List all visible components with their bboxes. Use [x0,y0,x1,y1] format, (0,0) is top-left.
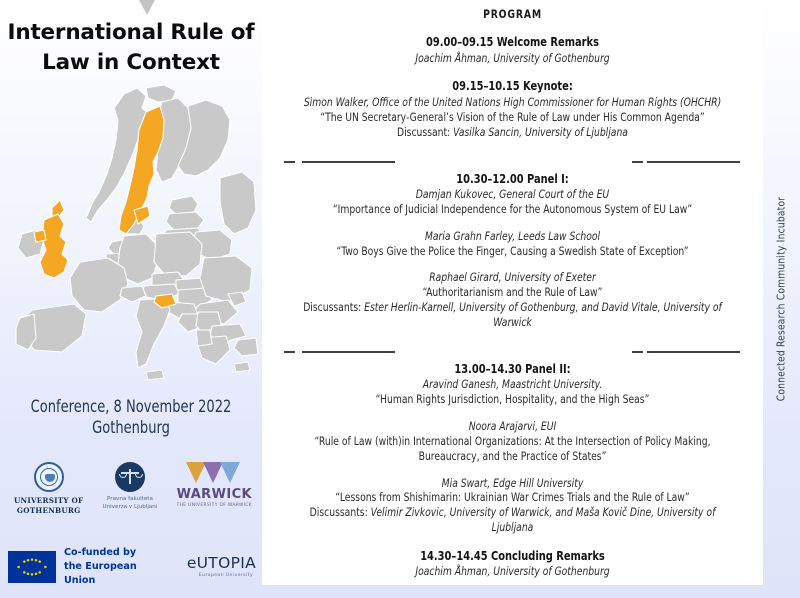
program-session-panel-2-speaker-2: Noora Arajarvi, EUI“Rule of Law (with)in… [272,419,753,463]
warwick-logo-label: WARWICK [177,488,252,501]
section-divider [272,345,753,359]
discussant-names: Velimir Zivkovic, University of Warwick,… [371,505,716,534]
session-time-title: 13.00–14.30 Panel II: [296,362,729,378]
program-session-panel-2-speaker-3: Mia Swart, Edge Hill University“Lessons … [272,476,753,535]
session-time-title: 10.30–12.00 Panel I: [296,172,729,188]
discussant-names: Ester Herlin-Karnell, University of Goth… [364,300,722,329]
session-speaker: Damjan Kukovec, General Court of the EU [296,187,729,202]
gothenburg-seal-icon [34,462,64,492]
session-speaker: Mia Swart, Edge Hill University [296,476,729,491]
session-talk-title: “Lessons from Shishimarin: Ukrainian War… [296,490,729,505]
incubator-vertical-label: Connected Research Community Incubator [776,197,787,401]
program-session-concluding-remarks: 14.30–14.45 Concluding RemarksJoachim Åh… [272,549,753,579]
session-talk-title: “The UN Secretary-General’s Vision of th… [296,110,729,125]
discussant-prefix: Discussants: [310,505,371,519]
session-speaker: Joachim Åhman, University of Gothenburg [296,564,729,579]
eutopia-sublabel: European University [199,573,253,578]
program-list: PROGRAM 09.00–09.15 Welcome RemarksJoach… [262,0,763,579]
eutopia-logo: eUTOPIA European University [187,556,256,579]
discussant-prefix: Discussant: [397,125,453,139]
session-time-title: 09.15–10.15 Keynote: [296,79,729,95]
page-title: International Rule of Law in Context [0,18,262,77]
program-session-panel-1-speaker-3: Raphael Girard, University of Exeter“Aut… [272,270,753,329]
university-of-gothenburg-logo: UNIVERSITY OF GOTHENBURG [14,462,83,515]
scales-of-justice-seal-icon [115,462,145,492]
session-speaker: Simon Walker, Office of the United Natio… [296,95,729,110]
program-session-panel-1-speaker-2: Maria Grahn Farley, Leeds Law School“Two… [272,229,753,259]
session-speaker: Aravind Ganesh, Maastricht University. [296,377,729,392]
session-talk-title: “Human Rights Jurisdiction, Hospitality,… [296,392,729,407]
left-column: International Rule of Law in Context [0,0,262,598]
university-of-ljubljana-law-logo: Pravna fakulteta Univerza v Ljubljani [103,462,158,512]
session-talk-title: “Rule of Law (with)in International Orga… [296,434,729,464]
europe-map [6,82,258,394]
program-panel: PROGRAM 09.00–09.15 Welcome RemarksJoach… [262,0,763,585]
program-session-panel-1: 10.30–12.00 Panel I:Damjan Kukovec, Gene… [272,172,753,217]
session-time-title: 09.00–09.15 Welcome Remarks [296,35,729,51]
eutopia-wordmark-icon: eUTOPIA [187,556,256,572]
gothenburg-logo-label: UNIVERSITY OF GOTHENBURG [14,496,83,515]
session-talk-title: “Importance of Judicial Independence for… [296,202,729,217]
session-discussants: Discussants: Velimir Zivkovic, Universit… [296,505,729,535]
session-speaker: Raphael Girard, University of Exeter [296,270,729,285]
university-logos: UNIVERSITY OF GOTHENBURG Pravna fakultet… [14,462,252,524]
program-session-keynote: 09.15–10.15 Keynote:Simon Walker, Office… [272,79,753,139]
warwick-logo-sublabel: THE UNIVERSITY OF WARWICK [177,503,252,508]
session-discussants: Discussant: Vasilka Sancin, University o… [296,125,729,140]
session-speaker: Noora Arajarvi, EUI [296,419,729,434]
conference-poster: International Rule of Law in Context [0,0,800,598]
eu-flag-icon [8,551,56,583]
session-talk-title: “Two Boys Give the Police the Finger, Ca… [296,244,729,259]
eu-funding-label: Co-funded by the European Union [64,546,161,588]
section-divider [272,155,753,169]
session-discussants: Discussants: Ester Herlin-Karnell, Unive… [296,300,729,330]
conference-details: Conference, 8 November 2022 Gothenburg [16,396,247,439]
right-side-strip: Connected Research Community Incubator [763,0,800,598]
discussant-prefix: Discussants: [303,300,364,314]
ljubljana-logo-label: Pravna fakulteta Univerza v Ljubljani [103,496,158,512]
program-session-welcome-remarks: 09.00–09.15 Welcome RemarksJoachim Åhman… [272,35,753,65]
program-heading: PROGRAM [296,7,729,21]
session-talk-title: “Authoritarianism and the Rule of Law” [296,285,729,300]
map-top-fragment-icon [138,0,156,15]
session-speaker: Joachim Åhman, University of Gothenburg [296,51,729,66]
warwick-university-logo: WARWICK THE UNIVERSITY OF WARWICK [177,462,252,508]
session-time-title: 14.30–14.45 Concluding Remarks [296,549,729,565]
program-session-panel-2: 13.00–14.30 Panel II:Aravind Ganesh, Maa… [272,362,753,407]
session-speaker: Maria Grahn Farley, Leeds Law School [296,229,729,244]
discussant-names: Vasilka Sancin, University of Ljubljana [453,125,628,139]
funder-logos: Co-funded by the European Union eUTOPIA … [8,546,256,588]
warwick-triangles-icon [186,462,242,486]
